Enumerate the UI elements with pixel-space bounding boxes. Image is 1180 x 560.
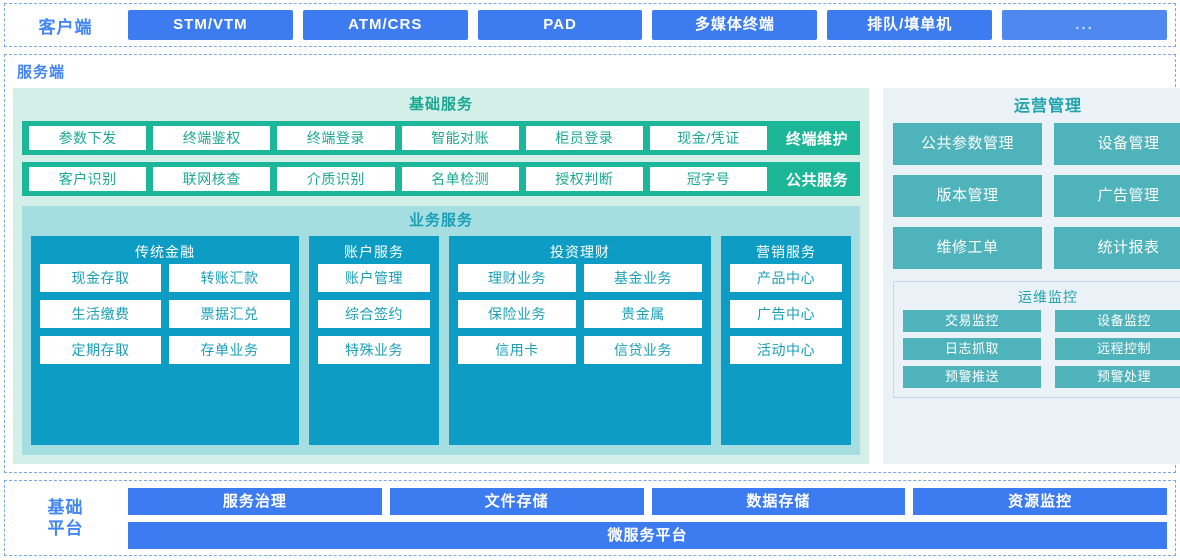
platform-resource-monitoring[interactable]: 资源监控 — [913, 488, 1167, 515]
ops-repair-work-order[interactable]: 维修工单 — [893, 227, 1042, 269]
platform-microservice[interactable]: 微服务平台 — [128, 522, 1167, 549]
client-terminal-more[interactable]: ... — [1002, 10, 1167, 40]
chip-fund-business[interactable]: 基金业务 — [584, 264, 702, 292]
client-terminal-multimedia[interactable]: 多媒体终端 — [652, 10, 817, 40]
basic-services-row-public-service: 客户识别 联网核查 介质识别 名单检测 授权判断 冠字号 公共服务 — [22, 162, 860, 196]
chip-param-delivery[interactable]: 参数下发 — [29, 126, 146, 150]
chip-credit-card[interactable]: 信用卡 — [458, 336, 576, 364]
client-terminal-queue-form[interactable]: 排队/填单机 — [827, 10, 992, 40]
business-services-panel: 业务服务 传统金融 现金存取 生活缴费 定期存取 — [22, 206, 860, 455]
ops-monitor-panel: 运维监控 交易监控 设备监控 日志抓取 远程控制 预警推送 预警处理 — [893, 281, 1180, 398]
platform-layer-label: 基础 平台 — [13, 497, 118, 539]
ops-public-parameter-management[interactable]: 公共参数管理 — [893, 123, 1042, 165]
business-group-column: 账户管理 综合签约 特殊业务 — [318, 264, 430, 436]
business-group-column: 转账汇款 票据汇兑 存单业务 — [169, 264, 290, 436]
operations-grid: 公共参数管理 设备管理 版本管理 广告管理 维修工单 统计报表 — [893, 123, 1180, 269]
client-terminal-pad[interactable]: PAD — [478, 10, 643, 40]
basic-services-row-terminal-maintenance: 参数下发 终端鉴权 终端登录 智能对账 柜员登录 现金/凭证 终端维护 — [22, 121, 860, 155]
chip-comprehensive-signing[interactable]: 综合签约 — [318, 300, 430, 328]
business-services-groups: 传统金融 现金存取 生活缴费 定期存取 转账汇款 票据汇兑 — [31, 236, 851, 445]
client-terminal-stm-vtm[interactable]: STM/VTM — [128, 10, 293, 40]
platform-content: 服务治理 文件存储 数据存储 资源监控 微服务平台 — [128, 488, 1167, 549]
business-group-investment: 投资理财 理财业务 保险业务 信用卡 基金业务 贵金属 — [449, 236, 711, 445]
chip-teller-login[interactable]: 柜员登录 — [526, 126, 643, 150]
ops-monitor-title: 运维监控 — [903, 286, 1180, 308]
chip-media-recognition[interactable]: 介质识别 — [277, 167, 394, 191]
ops-device-management[interactable]: 设备管理 — [1054, 123, 1180, 165]
business-group-column: 现金存取 生活缴费 定期存取 — [40, 264, 161, 436]
business-group-cells: 现金存取 生活缴费 定期存取 转账汇款 票据汇兑 存单业务 — [40, 264, 290, 436]
client-layer-label: 客户端 — [13, 13, 118, 38]
business-group-traditional-finance: 传统金融 现金存取 生活缴费 定期存取 转账汇款 票据汇兑 — [31, 236, 299, 445]
ops-monitor-grid: 交易监控 设备监控 日志抓取 远程控制 预警推送 预警处理 — [903, 310, 1180, 388]
chip-cash-voucher[interactable]: 现金/凭证 — [650, 126, 767, 150]
business-group-title-marketing: 营销服务 — [730, 240, 842, 264]
monitor-remote-control[interactable]: 远程控制 — [1055, 338, 1180, 360]
business-group-column: 理财业务 保险业务 信用卡 — [458, 264, 576, 436]
business-group-title-investment: 投资理财 — [458, 240, 702, 264]
business-services-title: 业务服务 — [31, 211, 851, 231]
chip-authorization-judgment[interactable]: 授权判断 — [526, 167, 643, 191]
chip-terminal-login[interactable]: 终端登录 — [277, 126, 394, 150]
basic-services-title: 基础服务 — [22, 95, 860, 115]
chip-precious-metals[interactable]: 贵金属 — [584, 300, 702, 328]
monitor-alert-push[interactable]: 预警推送 — [903, 366, 1041, 388]
monitor-alert-handling[interactable]: 预警处理 — [1055, 366, 1180, 388]
chip-cash-deposit-withdrawal[interactable]: 现金存取 — [40, 264, 161, 292]
platform-label-line2: 平台 — [13, 518, 118, 539]
server-layer: 服务端 基础服务 参数下发 终端鉴权 终端登录 智能对账 柜员登录 现金/凭证 … — [4, 54, 1176, 473]
ops-statistical-report[interactable]: 统计报表 — [1054, 227, 1180, 269]
platform-top-row: 服务治理 文件存储 数据存储 资源监控 — [128, 488, 1167, 515]
ops-advertising-management[interactable]: 广告管理 — [1054, 175, 1180, 217]
chip-crown-number[interactable]: 冠字号 — [650, 167, 767, 191]
monitor-log-capture[interactable]: 日志抓取 — [903, 338, 1041, 360]
platform-layer: 基础 平台 服务治理 文件存储 数据存储 资源监控 微服务平台 — [4, 480, 1176, 556]
server-layer-label: 服务端 — [17, 61, 1167, 82]
business-group-title-account-service: 账户服务 — [318, 240, 430, 264]
services-column: 基础服务 参数下发 终端鉴权 终端登录 智能对账 柜员登录 现金/凭证 终端维护… — [13, 88, 869, 464]
platform-data-storage[interactable]: 数据存储 — [652, 488, 906, 515]
business-group-marketing: 营销服务 产品中心 广告中心 活动中心 — [721, 236, 851, 445]
chip-list-detection[interactable]: 名单检测 — [402, 167, 519, 191]
chip-special-business[interactable]: 特殊业务 — [318, 336, 430, 364]
chip-certificate-deposit[interactable]: 存单业务 — [169, 336, 290, 364]
chip-smart-reconciliation[interactable]: 智能对账 — [402, 126, 519, 150]
chip-activity-center[interactable]: 活动中心 — [730, 336, 842, 364]
chip-credit-business[interactable]: 信贷业务 — [584, 336, 702, 364]
chip-bill-exchange[interactable]: 票据汇兑 — [169, 300, 290, 328]
ops-version-management[interactable]: 版本管理 — [893, 175, 1042, 217]
business-group-column: 产品中心 广告中心 活动中心 — [730, 264, 842, 436]
architecture-diagram: 客户端 STM/VTM ATM/CRS PAD 多媒体终端 排队/填单机 ...… — [0, 0, 1180, 560]
chip-advertising-center[interactable]: 广告中心 — [730, 300, 842, 328]
business-group-cells: 产品中心 广告中心 活动中心 — [730, 264, 842, 436]
client-layer: 客户端 STM/VTM ATM/CRS PAD 多媒体终端 排队/填单机 ... — [4, 3, 1176, 47]
platform-label-line1: 基础 — [13, 497, 118, 518]
server-columns: 基础服务 参数下发 终端鉴权 终端登录 智能对账 柜员登录 现金/凭证 终端维护… — [13, 88, 1167, 464]
business-group-cells: 账户管理 综合签约 特殊业务 — [318, 264, 430, 436]
chip-account-management[interactable]: 账户管理 — [318, 264, 430, 292]
business-group-account-service: 账户服务 账户管理 综合签约 特殊业务 — [309, 236, 439, 445]
business-group-column: 基金业务 贵金属 信贷业务 — [584, 264, 702, 436]
chip-online-verification[interactable]: 联网核查 — [153, 167, 270, 191]
chip-transfer-remittance[interactable]: 转账汇款 — [169, 264, 290, 292]
row-tag-public-service: 公共服务 — [774, 169, 860, 190]
basic-services-rows: 参数下发 终端鉴权 终端登录 智能对账 柜员登录 现金/凭证 终端维护 客户识别… — [22, 121, 860, 196]
monitor-transaction[interactable]: 交易监控 — [903, 310, 1041, 332]
monitor-device[interactable]: 设备监控 — [1055, 310, 1180, 332]
operations-title: 运营管理 — [893, 95, 1180, 119]
business-group-title-traditional-finance: 传统金融 — [40, 240, 290, 264]
row-tag-terminal-maintenance: 终端维护 — [774, 128, 860, 149]
chip-living-payment[interactable]: 生活缴费 — [40, 300, 161, 328]
chip-customer-identification[interactable]: 客户识别 — [29, 167, 146, 191]
client-terminal-atm-crs[interactable]: ATM/CRS — [303, 10, 468, 40]
platform-service-governance[interactable]: 服务治理 — [128, 488, 382, 515]
chip-terminal-auth[interactable]: 终端鉴权 — [153, 126, 270, 150]
platform-file-storage[interactable]: 文件存储 — [390, 488, 644, 515]
chip-wealth-management[interactable]: 理财业务 — [458, 264, 576, 292]
chip-insurance-business[interactable]: 保险业务 — [458, 300, 576, 328]
chip-product-center[interactable]: 产品中心 — [730, 264, 842, 292]
business-group-cells: 理财业务 保险业务 信用卡 基金业务 贵金属 信贷业务 — [458, 264, 702, 436]
chip-fixed-deposit[interactable]: 定期存取 — [40, 336, 161, 364]
operations-column: 运营管理 公共参数管理 设备管理 版本管理 广告管理 维修工单 统计报表 运维监… — [883, 88, 1180, 464]
